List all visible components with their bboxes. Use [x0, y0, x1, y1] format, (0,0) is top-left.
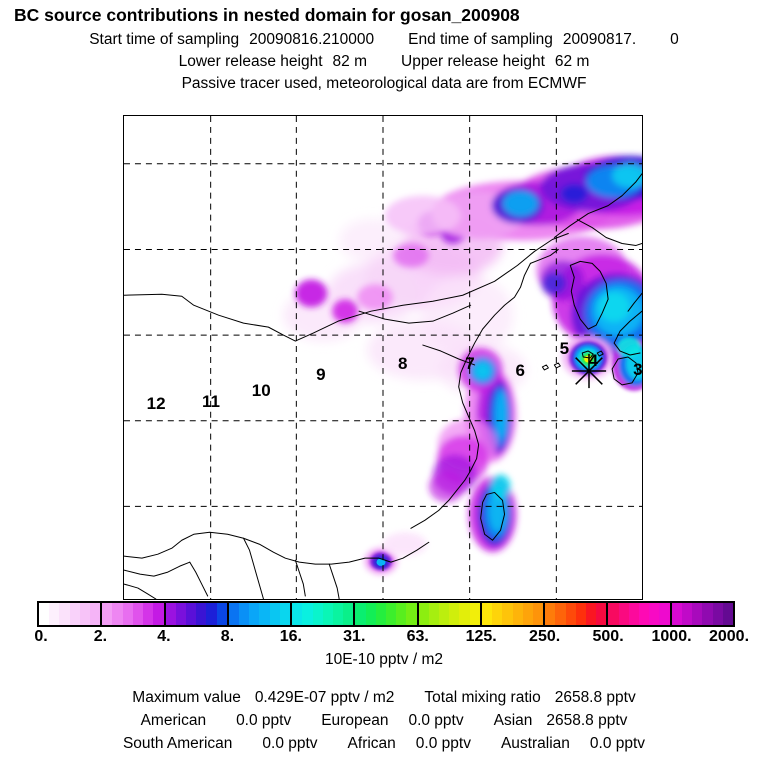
trajectory-day-label-10: 10 [252, 381, 271, 401]
colorbar-tick-7: 125. [466, 628, 497, 646]
colorbar-segment-6 [419, 603, 482, 625]
colorbar-cell-10-0 [672, 603, 682, 625]
colorbar-cell-8-1 [555, 603, 565, 625]
colorbar-segment-1 [102, 603, 165, 625]
colorbar-cell-5-1 [366, 603, 376, 625]
colorbar-cell-10-4 [713, 603, 723, 625]
colorbar-tick-8: 250. [529, 628, 560, 646]
colorbar-cell-7-1 [492, 603, 502, 625]
colorbar-cell-2-5 [217, 603, 227, 625]
colorbar-cell-5-2 [376, 603, 386, 625]
colorbar-cell-3-2 [249, 603, 259, 625]
colorbar-cell-4-0 [292, 603, 302, 625]
colorbar-cell-4-3 [323, 603, 333, 625]
colorbar-cell-2-4 [206, 603, 216, 625]
colorbar-cell-0-4 [80, 603, 90, 625]
colorbar-cell-4-4 [333, 603, 343, 625]
map-plot-area[interactable]: 1211109876543 [123, 115, 643, 600]
method-line: Passive tracer used, meteorological data… [0, 71, 768, 93]
sampling-time-line: Start time of sampling20090816.210000End… [0, 26, 768, 49]
region-value-african: 0.0 pptv [416, 735, 471, 752]
colorbar-cell-1-0 [102, 603, 112, 625]
colorbar-tick-9: 500. [593, 628, 624, 646]
trajectory-day-label-5: 5 [560, 339, 569, 359]
colorbar-tick-labels: 0.2.4.8.16.31.63.125.250.500.1000.2000. [0, 628, 768, 650]
colorbar-segment-10 [672, 603, 733, 625]
colorbar-cell-7-3 [513, 603, 523, 625]
colorbar-cell-6-0 [419, 603, 429, 625]
colorbar-cell-3-0 [229, 603, 239, 625]
region-label-south-american: South American [123, 735, 232, 752]
colorbar-tick-0: 0. [34, 628, 47, 646]
colorbar-cell-6-1 [429, 603, 439, 625]
colorbar-cell-6-2 [439, 603, 449, 625]
trajectory-day-label-4: 4 [589, 351, 598, 371]
trajectory-day-label-12: 12 [147, 394, 166, 414]
statistics-block: Maximum value0.429E-07 pptv / m2Total mi… [0, 686, 768, 755]
colorbar-cell-7-2 [502, 603, 512, 625]
colorbar-cell-9-2 [629, 603, 639, 625]
region-row-1: American0.0 pptvEuropean0.0 pptvAsian265… [0, 709, 768, 732]
colorbar-cell-6-3 [449, 603, 459, 625]
colorbar-segment-9 [608, 603, 671, 625]
trajectory-day-label-9: 9 [316, 365, 325, 385]
colorbar-unit-label: 10E-10 pptv / m2 [0, 651, 768, 669]
colorbar-cell-8-5 [596, 603, 606, 625]
region-label-european: European [321, 712, 388, 729]
upper-release-value: 62 m [555, 52, 589, 71]
region-label-american: American [141, 712, 206, 729]
colorbar-cell-1-5 [153, 603, 163, 625]
colorbar-tick-11: 2000. [709, 628, 749, 646]
lower-release-value: 82 m [333, 52, 367, 71]
colorbar-segment-4 [292, 603, 355, 625]
colorbar-cell-10-5 [723, 603, 733, 625]
region-value-australian: 0.0 pptv [590, 735, 645, 752]
start-time-label: Start time of sampling [89, 30, 239, 49]
colorbar-cell-5-3 [386, 603, 396, 625]
colorbar-cell-0-5 [90, 603, 100, 625]
colorbar-tick-1: 2. [94, 628, 107, 646]
colorbar-cell-7-5 [533, 603, 543, 625]
colorbar-tick-10: 1000. [652, 628, 692, 646]
colorbar-cell-8-3 [576, 603, 586, 625]
colorbar-cell-1-4 [143, 603, 153, 625]
colorbar-segment-8 [545, 603, 608, 625]
colorbar-cell-9-4 [649, 603, 659, 625]
trajectory-day-label-7: 7 [465, 354, 474, 374]
colorbar-cell-2-0 [166, 603, 176, 625]
colorbar-cell-10-3 [702, 603, 712, 625]
lower-release-label: Lower release height [179, 52, 323, 71]
colorbar-cell-4-1 [302, 603, 312, 625]
colorbar-cell-1-1 [112, 603, 122, 625]
map-inner: 1211109876543 [124, 116, 642, 599]
colorbar-tick-3: 8. [221, 628, 234, 646]
colorbar-cell-10-1 [682, 603, 692, 625]
trajectory-day-label-8: 8 [398, 354, 407, 374]
region-value-south-american: 0.0 pptv [262, 735, 317, 752]
colorbar-cell-7-0 [482, 603, 492, 625]
region-value-asian: 2658.8 pptv [546, 712, 627, 729]
max-value-label: Maximum value [132, 689, 241, 706]
colorbar-segment-5 [355, 603, 418, 625]
colorbar-cell-0-2 [59, 603, 69, 625]
colorbar-cell-8-0 [545, 603, 555, 625]
colorbar-cell-2-1 [176, 603, 186, 625]
colorbar-segment-3 [229, 603, 292, 625]
region-label-asian: Asian [494, 712, 533, 729]
colorbar[interactable] [37, 601, 735, 627]
colorbar-segment-7 [482, 603, 545, 625]
colorbar-cell-0-1 [49, 603, 59, 625]
colorbar-cell-9-5 [659, 603, 669, 625]
max-total-row: Maximum value0.429E-07 pptv / m2Total mi… [0, 686, 768, 709]
colorbar-cell-1-3 [133, 603, 143, 625]
upper-release-label: Upper release height [401, 52, 545, 71]
colorbar-tick-2: 4. [157, 628, 170, 646]
colorbar-cell-0-3 [70, 603, 80, 625]
colorbar-tick-6: 63. [407, 628, 429, 646]
region-label-australian: Australian [501, 735, 570, 752]
colorbar-cell-3-5 [280, 603, 290, 625]
total-mixing-value: 2658.8 pptv [555, 689, 636, 706]
colorbar-cell-8-2 [566, 603, 576, 625]
colorbar-cell-3-3 [259, 603, 269, 625]
colorbar-cell-1-2 [123, 603, 133, 625]
colorbar-cell-3-4 [270, 603, 280, 625]
region-label-african: African [348, 735, 396, 752]
page-title: BC source contributions in nested domain… [0, 0, 768, 26]
colorbar-tick-5: 31. [343, 628, 365, 646]
colorbar-cell-2-3 [196, 603, 206, 625]
colorbar-cell-7-4 [523, 603, 533, 625]
end-time-label: End time of sampling [408, 30, 553, 49]
colorbar-cell-5-4 [396, 603, 406, 625]
colorbar-cell-4-5 [343, 603, 353, 625]
colorbar-cell-10-2 [692, 603, 702, 625]
colorbar-cell-2-2 [186, 603, 196, 625]
trajectory-day-label-6: 6 [516, 361, 525, 381]
colorbar-segment-0 [39, 603, 102, 625]
colorbar-cell-6-4 [459, 603, 469, 625]
trajectory-day-label-11: 11 [202, 392, 220, 412]
total-mixing-label: Total mixing ratio [424, 689, 540, 706]
header-block: BC source contributions in nested domain… [0, 0, 768, 93]
colorbar-cell-5-5 [406, 603, 416, 625]
colorbar-segment-2 [166, 603, 229, 625]
max-value-value: 0.429E-07 pptv / m2 [255, 689, 395, 706]
release-height-line: Lower release height82 mUpper release he… [0, 49, 768, 71]
end-time-value: 20090817. [563, 30, 636, 49]
colorbar-cell-0-0 [39, 603, 49, 625]
region-row-2: South American0.0 pptvAfrican0.0 pptvAus… [0, 732, 768, 755]
colorbar-cell-9-1 [619, 603, 629, 625]
colorbar-cell-9-0 [608, 603, 618, 625]
end-time-value-extra: 0 [670, 30, 679, 49]
colorbar-cell-8-4 [586, 603, 596, 625]
colorbar-cell-6-5 [470, 603, 480, 625]
colorbar-tick-4: 16. [280, 628, 302, 646]
colorbar-cell-9-3 [639, 603, 649, 625]
colorbar-cell-4-2 [313, 603, 323, 625]
region-value-american: 0.0 pptv [236, 712, 291, 729]
region-value-european: 0.0 pptv [408, 712, 463, 729]
colorbar-cell-5-0 [355, 603, 365, 625]
start-time-value: 20090816.210000 [249, 30, 374, 49]
trajectory-day-label-3: 3 [633, 360, 642, 380]
colorbar-cell-3-1 [239, 603, 249, 625]
flexpart-plot-page: BC source contributions in nested domain… [0, 0, 768, 768]
